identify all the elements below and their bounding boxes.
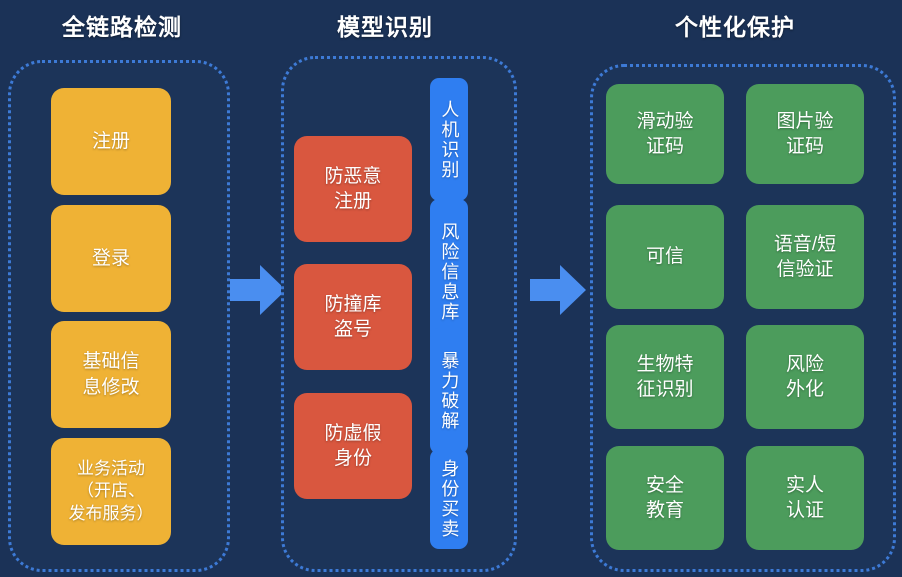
column-title-personalized-protection: 个性化保护 <box>635 8 835 42</box>
tag-human-machine-recognition-label: 人机识别 <box>440 100 459 180</box>
card-basic-info-edit[interactable]: 基础信 息修改 <box>51 321 171 428</box>
card-trusted[interactable]: 可信 <box>606 205 724 309</box>
card-biometric-recognition[interactable]: 生物特 征识别 <box>606 325 724 429</box>
tag-identity-trading[interactable]: 身份买卖 <box>430 449 468 549</box>
arrow-detection-to-model-icon <box>230 261 286 319</box>
card-image-captcha[interactable]: 图片验 证码 <box>746 84 864 184</box>
card-login[interactable]: 登录 <box>51 205 171 312</box>
card-register[interactable]: 注册 <box>51 88 171 195</box>
column-title-model-recognition: 模型识别 <box>285 8 485 42</box>
tag-human-machine-recognition[interactable]: 人机识别 <box>430 78 468 201</box>
diagram-canvas: 全链路检测 模型识别 个性化保护 注册 登录 基础信 息修改 业务活动 （开店、… <box>0 0 902 577</box>
card-anti-fake-identity[interactable]: 防虚假 身份 <box>294 393 412 499</box>
tag-brute-force-cracking[interactable]: 暴力破解 <box>430 328 468 454</box>
card-voice-sms-verification[interactable]: 语音/短 信验证 <box>746 205 864 309</box>
tag-identity-trading-label: 身份买卖 <box>440 459 459 539</box>
tag-risk-info-database-label: 风险信息库 <box>440 222 459 322</box>
card-anti-credential-stuffing[interactable]: 防撞库 盗号 <box>294 264 412 370</box>
tag-risk-info-database[interactable]: 风险信息库 <box>430 199 468 345</box>
tag-brute-force-cracking-label: 暴力破解 <box>440 351 459 431</box>
card-anti-malicious-registration[interactable]: 防恶意 注册 <box>294 136 412 242</box>
card-slide-captcha[interactable]: 滑动验 证码 <box>606 84 724 184</box>
arrow-model-to-protection-icon <box>530 261 586 319</box>
card-business-activity[interactable]: 业务活动 （开店、 发布服务） <box>51 438 171 545</box>
column-title-detection: 全链路检测 <box>22 8 222 42</box>
card-real-person-authentication[interactable]: 实人 认证 <box>746 446 864 550</box>
card-risk-externalization[interactable]: 风险 外化 <box>746 325 864 429</box>
card-security-education[interactable]: 安全 教育 <box>606 446 724 550</box>
